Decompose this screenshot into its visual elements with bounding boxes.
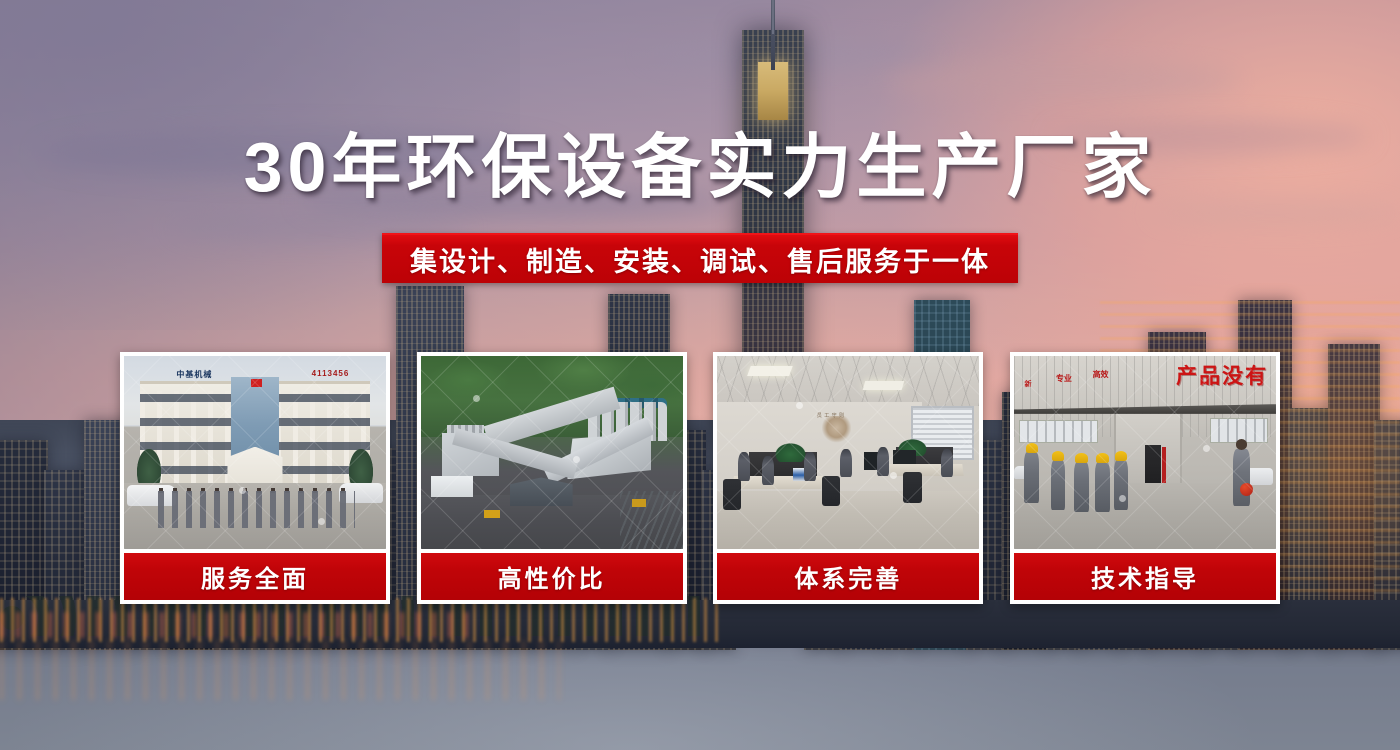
wall-decal-text: 员 工 守 则 xyxy=(817,412,845,419)
subtitle-banner: 集设计、制造、安装、调试、售后服务于一体 xyxy=(382,233,1018,283)
hard-hat-icon xyxy=(1052,451,1064,461)
office-interior-photo: 员 工 守 则 xyxy=(717,356,979,549)
card-label-text: 服务全面 xyxy=(201,559,309,594)
hard-hat-icon xyxy=(1115,451,1127,461)
card-label-text: 技术指导 xyxy=(1091,559,1199,594)
factory-wall-slogan-small: 新 xyxy=(1024,379,1031,389)
feature-card-value[interactable]: 高性价比 xyxy=(417,352,687,604)
light-reflections-on-water xyxy=(0,640,560,700)
building-sign-text: 中基机械 xyxy=(176,369,212,380)
hard-hat-icon xyxy=(1075,453,1087,463)
promo-banner: 30年环保设备实力生产厂家 集设计、制造、安装、调试、售后服务于一体 中基机械 … xyxy=(0,0,1400,750)
flag-icon xyxy=(251,379,262,387)
card-label-guidance: 技术指导 xyxy=(1014,553,1276,600)
card-label-text: 体系完善 xyxy=(794,559,902,594)
factory-wall-slogan-small: 高效 xyxy=(1093,369,1109,380)
feature-card-service[interactable]: 中基机械 4113456 服务全面 xyxy=(120,352,390,604)
card-label-service: 服务全面 xyxy=(124,553,386,600)
factory-wall-slogan-small: 专业 xyxy=(1056,373,1072,384)
riverbank-lights-secondary xyxy=(0,612,480,638)
feature-card-guidance[interactable]: 产品没有 新 专业 高效 xyxy=(1010,352,1280,604)
hard-hat-icon xyxy=(1096,453,1108,463)
hard-hat-icon xyxy=(1026,443,1038,453)
subtitle-text: 集设计、制造、安装、调试、售后服务于一体 xyxy=(410,240,990,279)
card-label-system: 体系完善 xyxy=(717,553,979,600)
card-label-text: 高性价比 xyxy=(498,559,606,594)
wall-decal-icon xyxy=(822,416,851,447)
tower-crown-lights xyxy=(758,62,788,120)
company-headquarters-photo: 中基机械 4113456 xyxy=(124,356,386,549)
card-label-value: 高性价比 xyxy=(421,553,683,600)
feature-card-row: 中基机械 4113456 服务全面 xyxy=(120,352,1280,604)
aerial-plant-photo xyxy=(421,356,683,549)
tower-spire-tip xyxy=(772,0,774,34)
feature-card-system[interactable]: 员 工 守 则 xyxy=(713,352,983,604)
page-title: 30年环保设备实力生产厂家 xyxy=(0,132,1400,202)
factory-wall-slogan: 产品没有 xyxy=(1176,360,1268,390)
building-phone-text: 4113456 xyxy=(312,369,350,378)
factory-workers-photo: 产品没有 新 专业 高效 xyxy=(1014,356,1276,549)
